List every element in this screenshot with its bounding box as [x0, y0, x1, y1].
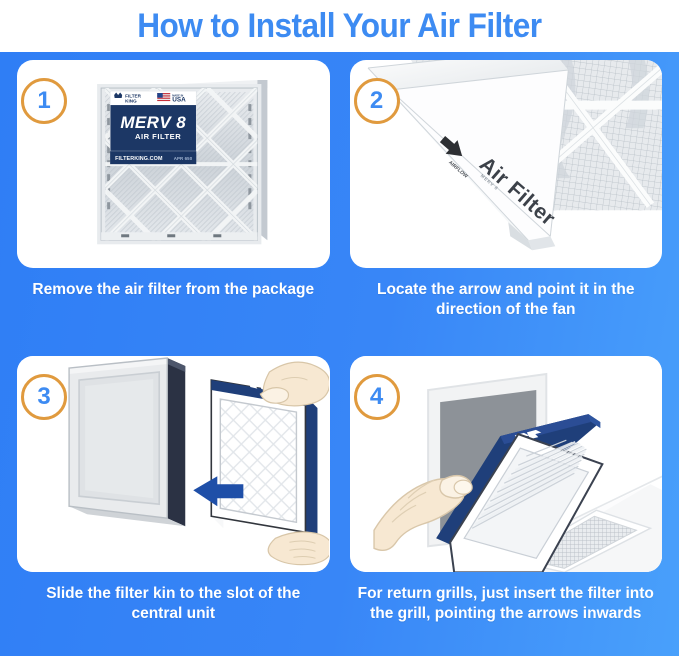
step-1-card: FILTER KING MADE IN USA MERV 8 AIR FI — [17, 60, 330, 268]
step-caption-4: For return grills, just insert the filte… — [350, 584, 663, 624]
step-caption-2: Locate the arrow and point it in the dir… — [350, 280, 663, 320]
svg-text:MERV 8: MERV 8 — [120, 113, 186, 132]
step-badge-2: 2 — [354, 78, 400, 124]
svg-text:FILTERKING.COM: FILTERKING.COM — [115, 156, 163, 162]
step-caption-3: Slide the filter kin to the slot of the … — [17, 584, 330, 624]
title-band: How to Install Your Air Filter — [0, 0, 679, 52]
step-3-card: 3 — [17, 356, 330, 572]
svg-text:AIR FILTER: AIR FILTER — [135, 132, 181, 141]
step-badge-3: 3 — [21, 374, 67, 420]
step-panel-3: 3 Slide the filter kin to the slot of th… — [17, 356, 330, 650]
step-panel-1: FILTER KING MADE IN USA MERV 8 AIR FI — [17, 60, 330, 354]
svg-text:APR 650: APR 650 — [174, 156, 193, 161]
step-badge-4: 4 — [354, 374, 400, 420]
page-title: How to Install Your Air Filter — [137, 9, 541, 43]
steps-grid: FILTER KING MADE IN USA MERV 8 AIR FI — [0, 52, 679, 656]
step-panel-4: 4 For return grills, just insert the fil… — [350, 356, 663, 650]
step-panel-2: AIRFLOW Air Filter MERV 8 2 Locate the a… — [350, 60, 663, 354]
svg-text:KING: KING — [125, 98, 137, 103]
step-caption-1: Remove the air filter from the package — [17, 280, 330, 300]
step-badge-1: 1 — [21, 78, 67, 124]
step-2-card: AIRFLOW Air Filter MERV 8 2 — [350, 60, 663, 268]
step-4-card: 4 — [350, 356, 663, 572]
svg-text:USA: USA — [172, 96, 186, 103]
